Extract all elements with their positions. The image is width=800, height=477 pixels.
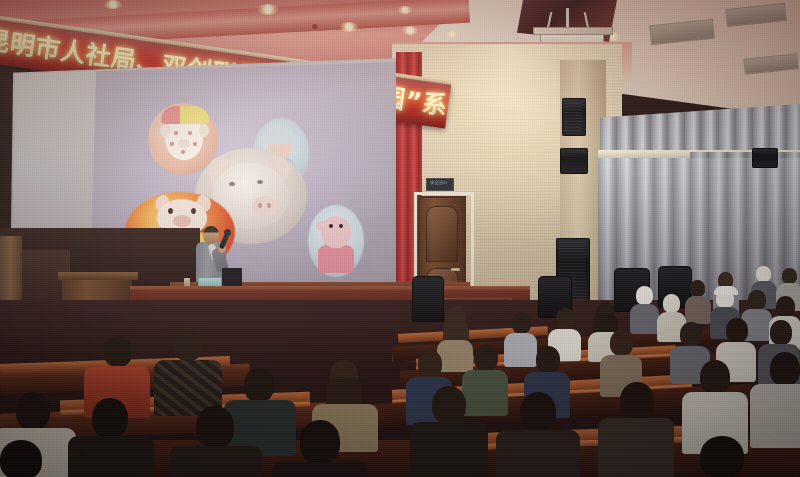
person-head xyxy=(0,440,42,477)
person-body xyxy=(410,422,488,477)
peppa-dress xyxy=(318,245,354,273)
exit-sign-label: 安全出口 xyxy=(427,180,451,186)
person-head xyxy=(300,420,340,464)
person-body xyxy=(630,304,659,334)
person-head xyxy=(610,330,633,356)
person-head xyxy=(244,368,274,402)
person-head xyxy=(432,386,466,424)
person-head xyxy=(92,398,128,438)
mcdull-cheek-right xyxy=(193,142,197,146)
ceiling-downlight-1 xyxy=(104,0,122,9)
mcdull-spot xyxy=(181,150,185,154)
ceiling-downlight-5 xyxy=(445,30,459,38)
person-head xyxy=(174,330,202,361)
lecture-hall-photo: 安全出口 昆明市人社局、双创联盟“双创进校园”系列讲座 xyxy=(0,0,800,477)
ceiling-downlight-3 xyxy=(340,22,358,32)
person-body xyxy=(68,436,154,477)
mcdull-cap xyxy=(161,106,209,124)
person-head xyxy=(770,320,792,345)
new-year-pig-eye-right xyxy=(191,208,196,214)
person-body xyxy=(504,333,537,367)
microphone-head xyxy=(224,229,231,236)
presenter-head xyxy=(203,226,219,244)
person-head xyxy=(536,346,560,373)
person-head xyxy=(418,350,442,378)
mcdull-eye-left xyxy=(174,131,178,135)
person-head xyxy=(663,294,680,313)
person-body xyxy=(598,418,674,477)
wall-speaker-center xyxy=(560,148,588,174)
peppa-eye-right xyxy=(339,224,343,228)
ceiling-downlight-8 xyxy=(398,6,412,14)
lectern-top xyxy=(58,272,138,280)
person-head xyxy=(620,382,654,420)
mcdull-snout xyxy=(178,139,190,148)
person-head xyxy=(104,336,132,367)
mcdull-eye-right xyxy=(188,131,192,135)
person-head xyxy=(636,286,653,305)
wall-speaker-right xyxy=(752,148,778,168)
person-head xyxy=(680,322,702,347)
person-body xyxy=(685,296,711,324)
new-year-pig-eye-left xyxy=(168,208,173,214)
ceiling-downlight-2 xyxy=(258,4,278,15)
person-head xyxy=(776,296,795,317)
person-head xyxy=(556,308,575,330)
person-body xyxy=(750,384,800,448)
person-head xyxy=(512,312,531,334)
person-body xyxy=(462,370,508,416)
ceiling-smoke-detector xyxy=(312,24,318,29)
person-head xyxy=(700,436,744,477)
person-body xyxy=(170,446,262,477)
mcdull-cheek-left xyxy=(170,142,174,146)
person-head xyxy=(726,318,748,343)
door-panel-top xyxy=(426,206,458,262)
person-body xyxy=(272,462,368,477)
person-head xyxy=(474,344,498,371)
person-head xyxy=(770,352,800,386)
person-head xyxy=(520,392,556,432)
person-body xyxy=(496,430,580,477)
presenter-laptop xyxy=(222,268,242,286)
person-head xyxy=(700,360,730,394)
door-handle[interactable] xyxy=(451,268,460,271)
person-head xyxy=(782,268,797,284)
person-head xyxy=(196,406,234,448)
projector-ceiling-plate xyxy=(533,27,613,35)
new-year-pig-snout xyxy=(173,215,191,227)
white-cap xyxy=(714,286,738,295)
wall-speaker-left-grill xyxy=(564,101,582,131)
mcdull-ear-right xyxy=(199,124,209,137)
person-head xyxy=(16,392,50,430)
person-head xyxy=(748,290,766,310)
office-chair-1 xyxy=(412,276,444,322)
real-pig-eye-right xyxy=(257,180,263,184)
ceiling-downlight-4 xyxy=(402,26,418,35)
person-head xyxy=(690,280,705,297)
mcdull-ear-left xyxy=(160,124,170,137)
peppa-snout xyxy=(316,221,330,231)
real-pig-eye-left xyxy=(229,182,235,186)
real-pig-nostril-left xyxy=(258,203,262,208)
person-head xyxy=(756,266,771,282)
person-body xyxy=(437,340,473,372)
real-pig-snout xyxy=(252,196,278,216)
real-pig-nostril-right xyxy=(267,203,271,208)
peppa-eye-left xyxy=(329,224,333,228)
